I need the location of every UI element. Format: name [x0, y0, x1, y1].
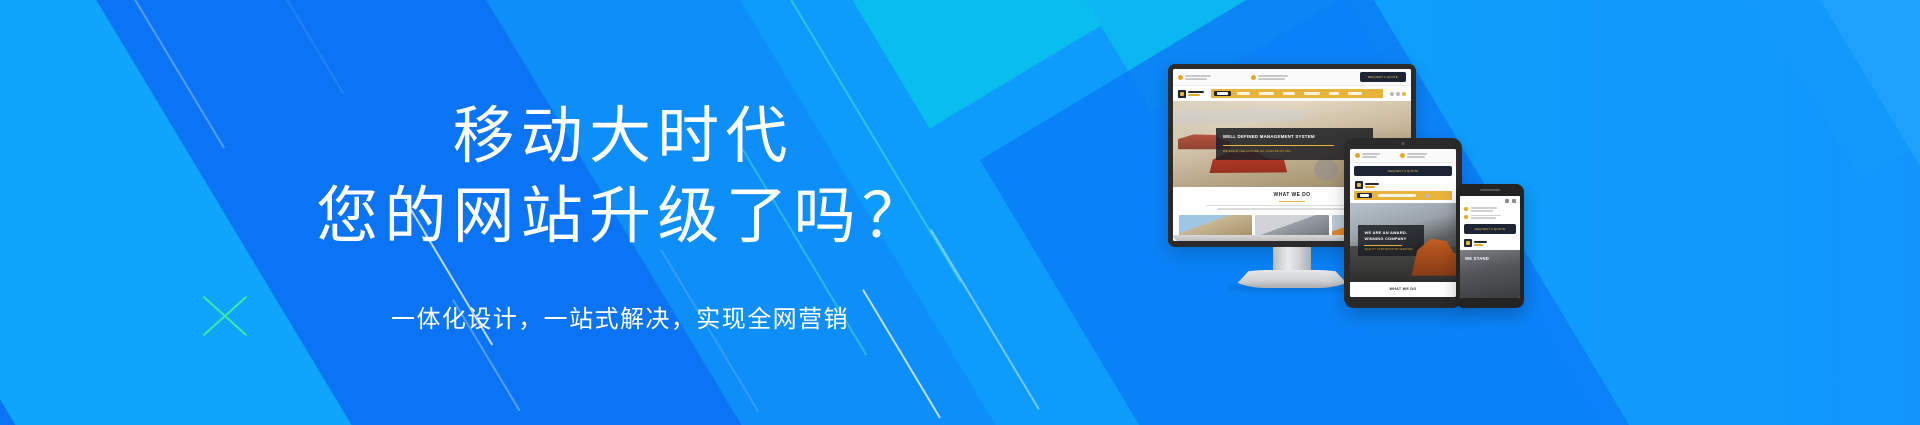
device-mockup-group: REQUEST A QUOTE	[1168, 64, 1888, 394]
site-topbar: REQUEST A QUOTE	[1173, 69, 1411, 86]
phone-lines-2	[1471, 215, 1516, 220]
phone-contact-2	[1464, 215, 1516, 220]
tablet-request-quote-button[interactable]: REQUEST A QUOTE	[1354, 166, 1452, 176]
phone-icon-row[interactable]	[1460, 196, 1520, 205]
site-menu[interactable]	[1211, 89, 1383, 98]
logo-mark-icon	[1355, 181, 1363, 189]
tablet-hero-subtitle: QUALITY CONSTRUCTION SERVICES	[1364, 248, 1418, 251]
tablet-hero-card: WE ARE AN AWARD-WINNING COMPANY QUALITY …	[1358, 225, 1424, 256]
nav-icon-group[interactable]	[1390, 92, 1406, 96]
tablet-site-mockup: REQUEST A QUOTE	[1350, 149, 1456, 297]
tablet-topbar	[1350, 149, 1456, 163]
phone-screen: REQUEST A QUOTE WE STAND	[1460, 196, 1520, 298]
headline-line-2: 您的网站升级了吗？	[316, 179, 930, 255]
phone-hero-title: WE STAND	[1460, 250, 1494, 262]
monitor-shadow	[1226, 283, 1358, 292]
site-logo[interactable]	[1178, 90, 1204, 98]
phone-request-quote-button[interactable]: REQUEST A QUOTE	[1464, 224, 1516, 234]
tablet-hero-title: WE ARE AN AWARD-WINNING COMPANY	[1364, 230, 1418, 242]
menu-item-services[interactable]	[1256, 91, 1277, 96]
topbar-contact-1	[1178, 75, 1211, 80]
topbar-lines-2	[1258, 75, 1288, 80]
cart-icon[interactable]	[1402, 92, 1406, 96]
tablet-section-title: WHAT WE DO	[1350, 282, 1456, 297]
tablet-logo[interactable]	[1355, 181, 1379, 189]
phone-icon	[1464, 207, 1468, 211]
phone-logo[interactable]	[1460, 237, 1520, 250]
tablet-screen: REQUEST A QUOTE	[1350, 149, 1456, 297]
tablet-device: REQUEST A QUOTE	[1344, 138, 1462, 308]
menu-item-about[interactable]	[1234, 91, 1253, 96]
topbar-lines	[1185, 75, 1211, 80]
speaker-icon	[1480, 189, 1500, 191]
tablet-contact-2	[1400, 153, 1427, 158]
tablet-hero: WE ARE AN AWARD-WINNING COMPANY QUALITY …	[1350, 203, 1456, 282]
menu-icon[interactable]	[1512, 199, 1516, 203]
thumbnail-2[interactable]	[1255, 215, 1328, 237]
tablet-menu[interactable]	[1354, 191, 1452, 200]
phone-contact-1	[1464, 207, 1516, 212]
tablet-topbar-lines-2	[1407, 153, 1427, 158]
tablet-contact-1	[1355, 153, 1380, 158]
search-icon[interactable]	[1390, 92, 1394, 96]
phone-contact-rows	[1460, 205, 1520, 221]
phone-wordmark	[1474, 241, 1487, 246]
section-divider	[1279, 201, 1305, 202]
request-quote-button[interactable]: REQUEST A QUOTE	[1360, 72, 1406, 82]
search-icon[interactable]	[1425, 194, 1429, 198]
clock-icon	[1464, 215, 1468, 219]
clock-icon	[1400, 153, 1405, 158]
menu-item-blog[interactable]	[1326, 91, 1342, 96]
cart-icon[interactable]	[1431, 194, 1435, 198]
tablet-hero-divider	[1364, 245, 1402, 246]
phone-icon	[1178, 75, 1183, 80]
phone-icon	[1355, 153, 1360, 158]
headline-line-1: 移动大时代	[453, 99, 794, 175]
camera-icon	[1402, 142, 1405, 145]
tablet-wordmark	[1365, 183, 1379, 188]
tablet-menu-home[interactable]	[1357, 193, 1372, 198]
hero-banner: 移动大时代 您的网站升级了吗？ 一体化设计，一站式解决，实现全网营销	[0, 0, 1920, 425]
logo-mark-icon	[1178, 90, 1186, 98]
site-navbar	[1173, 86, 1411, 101]
tablet-menu-about[interactable]	[1375, 193, 1419, 198]
phone-bezel: REQUEST A QUOTE WE STAND	[1456, 184, 1524, 308]
menu-item-contact[interactable]	[1345, 91, 1365, 96]
tablet-menu-bar[interactable]	[1354, 191, 1452, 200]
logo-wordmark	[1188, 91, 1204, 96]
thumbnail-1[interactable]	[1179, 215, 1252, 237]
banner-subtitle: 一体化设计，一站式解决，实现全网营销	[391, 299, 849, 334]
clock-icon	[1251, 75, 1256, 80]
phone-hero: WE STAND	[1460, 250, 1520, 298]
tablet-topbar-lines	[1362, 153, 1380, 158]
tablet-navbar	[1350, 179, 1456, 191]
menu-item-projects[interactable]	[1280, 91, 1298, 96]
logo-mark-icon	[1464, 239, 1472, 247]
search-icon[interactable]	[1505, 199, 1509, 203]
phone-device: REQUEST A QUOTE WE STAND	[1456, 184, 1524, 308]
phone-lines-1	[1471, 207, 1516, 212]
hero-divider	[1223, 145, 1335, 146]
tablet-bezel: REQUEST A QUOTE	[1344, 138, 1462, 308]
banner-copy: 移动大时代 您的网站升级了吗？ 一体化设计，一站式解决，实现全网营销	[0, 0, 1240, 425]
phone-site-mockup: REQUEST A QUOTE WE STAND	[1460, 196, 1520, 298]
menu-item-home[interactable]	[1214, 91, 1231, 96]
topbar-contact-2	[1251, 75, 1288, 80]
tablet-nav-icons[interactable]	[1425, 194, 1435, 198]
user-icon[interactable]	[1396, 92, 1400, 96]
menu-item-pages[interactable]	[1301, 91, 1323, 96]
